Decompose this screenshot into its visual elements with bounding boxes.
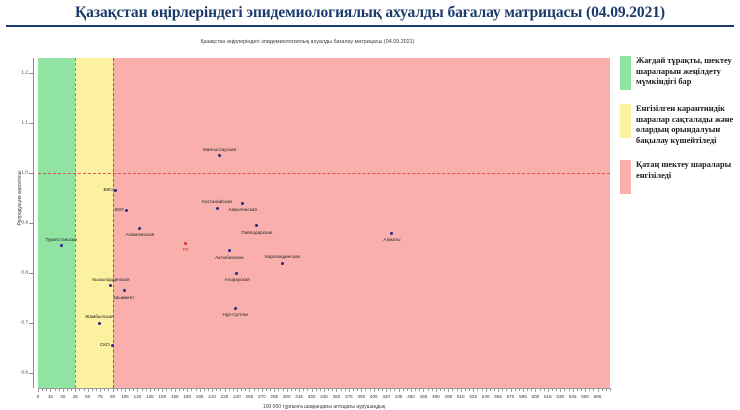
x-tick (100, 388, 101, 392)
x-tick-minor (610, 388, 611, 391)
x-tick (324, 388, 325, 392)
data-point[interactable] (216, 207, 219, 210)
x-tick (486, 388, 487, 392)
red-zone (113, 58, 610, 388)
data-point-label: Кызылординская (92, 277, 129, 282)
page-title: Қазақстан өңірлеріндегі эпидемиологиялық… (0, 4, 740, 22)
x-tick-minor (191, 388, 192, 391)
x-tick-minor (154, 388, 155, 391)
x-tick-minor (278, 388, 279, 391)
y-tick-label: 0.7 (0, 321, 28, 326)
plot-area: ТуркестанскаяВКОЗКОАлматинскаяКызылордин… (38, 58, 610, 388)
y-tick-label: 0.6 (0, 371, 28, 376)
y-axis-title: Репродукция көрсеткіші (17, 138, 23, 258)
x-tick-minor (353, 388, 354, 391)
x-tick-minor (320, 388, 321, 391)
x-tick-minor (108, 388, 109, 391)
x-tick (448, 388, 449, 392)
x-tick-minor (378, 388, 379, 391)
x-tick-minor (254, 388, 255, 391)
x-tick (585, 388, 586, 392)
data-point[interactable] (234, 307, 237, 310)
x-tick-minor (365, 388, 366, 391)
x-tick (349, 388, 350, 392)
x-tick-minor (415, 388, 416, 391)
x-tick-label: 525 (469, 394, 477, 399)
x-tick (548, 388, 549, 392)
data-point-label: Жамбылская (85, 314, 114, 319)
x-tick-label: 195 (196, 394, 204, 399)
legend: Жағдай тұрақты, шектеу шараларын жеңілде… (620, 56, 740, 208)
x-tick-minor (166, 388, 167, 391)
x-tick-label: 360 (333, 394, 341, 399)
x-tick-minor (283, 388, 284, 391)
x-tick (88, 388, 89, 392)
x-tick (113, 388, 114, 392)
x-tick-minor (229, 388, 230, 391)
data-point-label: Карагандинская (265, 254, 300, 259)
x-tick-label: 600 (532, 394, 540, 399)
x-tick-label: 685 (594, 394, 602, 399)
x-tick-minor (544, 388, 545, 391)
x-tick-minor (295, 388, 296, 391)
data-point-label: Костанайская (202, 199, 232, 204)
x-tick-minor (121, 388, 122, 391)
x-tick-label: 15 (48, 394, 53, 399)
x-tick-minor (307, 388, 308, 391)
x-tick (150, 388, 151, 392)
x-tick (598, 388, 599, 392)
x-tick-minor (291, 388, 292, 391)
legend-item-label: Қатаң шектеу шаралары енгізіледі (636, 160, 740, 181)
threshold-r-1.0 (38, 173, 610, 174)
legend-item-label: Жағдай тұрақты, шектеу шараларын жеңілде… (636, 56, 740, 88)
y-tick-label: 0.9 (0, 221, 28, 226)
x-tick (274, 388, 275, 392)
data-point-label: ВКО (103, 187, 112, 192)
x-tick (187, 388, 188, 392)
x-tick (162, 388, 163, 392)
x-tick-minor (515, 388, 516, 391)
legend-item: Енгізілген карантиндік шаралар сақталады… (620, 104, 740, 146)
x-tick (423, 388, 424, 392)
x-tick-label: 315 (295, 394, 303, 399)
y-tick (29, 323, 33, 324)
x-tick-minor (258, 388, 259, 391)
x-tick-minor (196, 388, 197, 391)
x-tick-label: 540 (482, 394, 490, 399)
data-point-label: Алматинская (126, 232, 155, 237)
y-tick (29, 73, 33, 74)
x-tick-minor (390, 388, 391, 391)
threshold-x-45 (75, 58, 76, 388)
x-tick-minor (419, 388, 420, 391)
y-tick-label: 1.0 (0, 171, 28, 176)
x-tick-label: 135 (146, 394, 154, 399)
chart-title: Қазақстан өңірлеріндегі эпидемиологиялық… (0, 39, 615, 45)
x-tick-label: 0 (37, 394, 40, 399)
x-tick-label: 435 (395, 394, 403, 399)
x-tick-minor (452, 388, 453, 391)
x-tick-label: 645 (569, 394, 577, 399)
x-tick-minor (606, 388, 607, 391)
x-tick-minor (490, 388, 491, 391)
x-tick-minor (96, 388, 97, 391)
y-tick (29, 173, 33, 174)
x-tick-minor (59, 388, 60, 391)
x-tick-minor (552, 388, 553, 391)
x-tick (374, 388, 375, 392)
x-tick-minor (494, 388, 495, 391)
x-tick-minor (540, 388, 541, 391)
x-tick (386, 388, 387, 392)
x-tick (336, 388, 337, 392)
y-tick-label: 0.8 (0, 271, 28, 276)
data-point[interactable] (184, 242, 187, 245)
data-point[interactable] (241, 202, 244, 205)
x-tick-label: 495 (445, 394, 453, 399)
x-tick-label: 480 (432, 394, 440, 399)
x-tick-label: 90 (110, 394, 115, 399)
x-tick-label: 555 (494, 394, 502, 399)
y-tick-label: 1.2 (0, 71, 28, 76)
x-tick-minor (332, 388, 333, 391)
x-tick-label: 630 (556, 394, 564, 399)
data-point-label: Павлодарская (241, 230, 272, 235)
x-tick-label: 390 (357, 394, 365, 399)
x-tick (473, 388, 474, 392)
x-tick-minor (220, 388, 221, 391)
data-point[interactable] (281, 262, 284, 265)
x-tick-label: 210 (208, 394, 216, 399)
x-tick-minor (204, 388, 205, 391)
x-tick-minor (370, 388, 371, 391)
x-tick (573, 388, 574, 392)
x-tick-label: 270 (258, 394, 266, 399)
x-tick-minor (564, 388, 565, 391)
x-tick (535, 388, 536, 392)
legend-color-swatch (620, 104, 631, 138)
x-tick-minor (577, 388, 578, 391)
legend-color-swatch (620, 160, 631, 194)
x-tick-label: 450 (407, 394, 415, 399)
y-axis-line (33, 58, 34, 388)
x-tick-minor (46, 388, 47, 391)
x-tick-minor (556, 388, 557, 391)
x-tick-minor (133, 388, 134, 391)
x-tick (287, 388, 288, 392)
x-tick-minor (519, 388, 520, 391)
x-tick (75, 388, 76, 392)
x-tick-minor (440, 388, 441, 391)
x-tick-label: 180 (183, 394, 191, 399)
data-point[interactable] (60, 244, 63, 247)
x-tick-minor (146, 388, 147, 391)
x-tick-label: 150 (159, 394, 167, 399)
green-zone (38, 58, 75, 388)
x-tick-label: 420 (382, 394, 390, 399)
x-tick-minor (394, 388, 395, 391)
x-tick-label: 165 (171, 394, 179, 399)
data-point-label: Алматы (383, 237, 400, 242)
data-point-label: ЗКО (115, 207, 124, 212)
x-tick-label: 285 (270, 394, 278, 399)
x-tick-label: 330 (308, 394, 316, 399)
x-tick-minor (245, 388, 246, 391)
x-tick-minor (407, 388, 408, 391)
x-tick-minor (208, 388, 209, 391)
x-axis-title: 100 000 тұрғынға шаққандағы аптадағы аур… (38, 404, 610, 410)
x-tick-minor (117, 388, 118, 391)
x-tick-minor (382, 388, 383, 391)
x-tick (200, 388, 201, 392)
x-tick-label: 585 (519, 394, 527, 399)
data-point-label: Туркестанская (45, 237, 77, 242)
x-tick-minor (216, 388, 217, 391)
x-tick (312, 388, 313, 392)
legend-color-swatch (620, 56, 631, 90)
x-tick (63, 388, 64, 392)
x-tick-minor (79, 388, 80, 391)
x-tick (212, 388, 213, 392)
data-point-label: Акмолинская (229, 207, 258, 212)
data-point[interactable] (123, 289, 126, 292)
x-tick (399, 388, 400, 392)
x-tick (237, 388, 238, 392)
x-tick-minor (527, 388, 528, 391)
x-tick-minor (129, 388, 130, 391)
data-point[interactable] (228, 249, 231, 252)
x-tick (361, 388, 362, 392)
x-tick-label: 225 (221, 394, 229, 399)
x-tick-minor (171, 388, 172, 391)
x-tick-minor (482, 388, 483, 391)
y-tick (29, 373, 33, 374)
x-tick-label: 345 (320, 394, 328, 399)
x-tick (137, 388, 138, 392)
x-tick-minor (104, 388, 105, 391)
x-tick-label: 120 (134, 394, 142, 399)
x-tick-label: 300 (283, 394, 291, 399)
x-tick (175, 388, 176, 392)
x-tick-minor (183, 388, 184, 391)
x-tick-label: 510 (457, 394, 465, 399)
x-tick-minor (142, 388, 143, 391)
data-point-label: Атырауская (224, 277, 250, 282)
x-tick-minor (531, 388, 532, 391)
x-tick-label: 60 (85, 394, 90, 399)
y-tick-label: 1.1 (0, 121, 28, 126)
legend-item-label: Енгізілген карантиндік шаралар сақталады… (636, 104, 740, 146)
data-point-label: Мангыстауская (203, 147, 236, 152)
x-tick-minor (266, 388, 267, 391)
x-tick (511, 388, 512, 392)
x-tick-minor (502, 388, 503, 391)
x-tick-minor (477, 388, 478, 391)
x-tick (498, 388, 499, 392)
legend-item: Қатаң шектеу шаралары енгізіледі (620, 160, 740, 194)
x-tick-minor (432, 388, 433, 391)
x-tick (523, 388, 524, 392)
y-tick (29, 223, 33, 224)
x-tick-label: 30 (60, 394, 65, 399)
x-tick-label: 405 (370, 394, 378, 399)
legend-item: Жағдай тұрақты, шектеу шараларын жеңілде… (620, 56, 740, 90)
x-tick-minor (42, 388, 43, 391)
x-tick-minor (341, 388, 342, 391)
x-tick-minor (92, 388, 93, 391)
data-point[interactable] (98, 322, 101, 325)
data-point-label: Шымкент (114, 295, 134, 300)
x-tick-minor (357, 388, 358, 391)
x-tick (262, 388, 263, 392)
x-tick-minor (241, 388, 242, 391)
x-tick (411, 388, 412, 392)
x-tick-minor (602, 388, 603, 391)
x-tick-minor (179, 388, 180, 391)
x-tick-label: 570 (507, 394, 515, 399)
x-tick-minor (403, 388, 404, 391)
x-tick-minor (55, 388, 56, 391)
x-tick-minor (345, 388, 346, 391)
x-tick (249, 388, 250, 392)
x-tick-minor (589, 388, 590, 391)
data-point-label: СКО (100, 342, 110, 347)
x-tick-minor (158, 388, 159, 391)
x-tick (299, 388, 300, 392)
x-tick-label: 75 (98, 394, 103, 399)
x-tick-minor (457, 388, 458, 391)
x-tick (560, 388, 561, 392)
x-tick-minor (84, 388, 85, 391)
x-tick-minor (581, 388, 582, 391)
x-tick-minor (233, 388, 234, 391)
x-tick-minor (569, 388, 570, 391)
x-tick-label: 105 (121, 394, 129, 399)
x-tick-label: 240 (233, 394, 241, 399)
x-tick-minor (428, 388, 429, 391)
x-tick (225, 388, 226, 392)
title-underline (6, 25, 734, 27)
x-tick (436, 388, 437, 392)
x-tick-label: 255 (246, 394, 254, 399)
x-tick-minor (465, 388, 466, 391)
x-tick-label: 45 (73, 394, 78, 399)
x-tick (50, 388, 51, 392)
x-tick-minor (469, 388, 470, 391)
data-point-label: Нур-Султан (223, 312, 249, 317)
x-tick-label: 615 (544, 394, 552, 399)
chart-figure: Қазақстан өңірлеріндегі эпидемиологиялық… (0, 30, 615, 404)
x-tick (461, 388, 462, 392)
x-tick-minor (444, 388, 445, 391)
x-tick-minor (316, 388, 317, 391)
x-tick-label: 660 (581, 394, 589, 399)
x-tick (125, 388, 126, 392)
x-tick-label: 465 (420, 394, 428, 399)
x-tick-minor (328, 388, 329, 391)
x-tick-label: 375 (345, 394, 353, 399)
y-tick (29, 123, 33, 124)
x-tick (38, 388, 39, 392)
threshold-x-90 (113, 58, 114, 388)
data-point-label: РК (183, 247, 189, 252)
data-point-label: Актюбинская (215, 255, 243, 260)
x-tick-minor (71, 388, 72, 391)
yellow-zone (75, 58, 112, 388)
x-tick-minor (506, 388, 507, 391)
y-tick (29, 273, 33, 274)
x-tick-minor (593, 388, 594, 391)
x-tick-minor (303, 388, 304, 391)
x-tick-minor (67, 388, 68, 391)
x-tick-minor (270, 388, 271, 391)
